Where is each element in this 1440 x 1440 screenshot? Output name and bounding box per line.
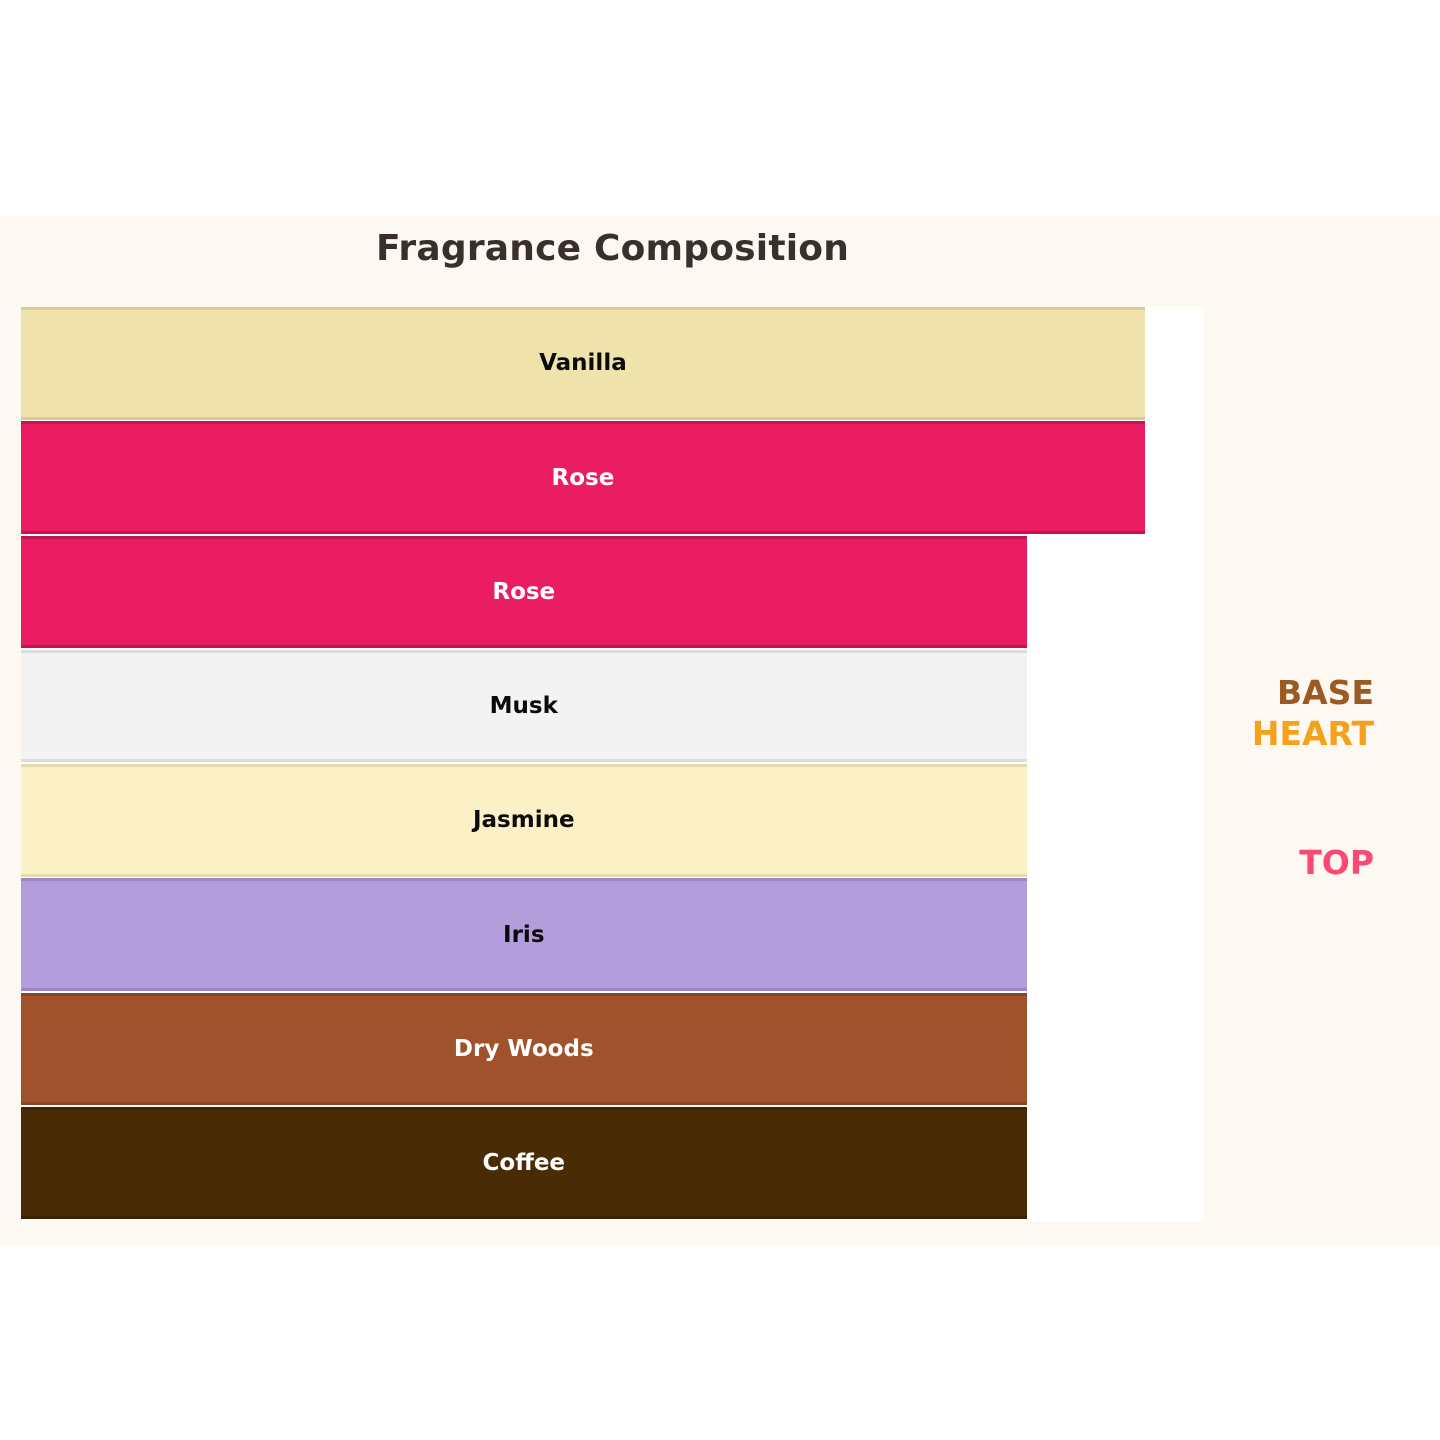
bar-jasmine[interactable]: Jasmine [21,764,1027,877]
bar-musk[interactable]: Musk [21,650,1027,763]
bar-coffee[interactable]: Coffee [21,1107,1027,1220]
screenshot-root: Fragrance Composition VanillaRoseRoseMus… [0,0,1440,1440]
bar-label: Dry Woods [454,1036,594,1062]
bar-vanilla[interactable]: Vanilla [21,307,1145,420]
bar-label: Coffee [483,1150,566,1176]
bar-label: Musk [490,693,558,719]
bar-rose[interactable]: Rose [21,536,1027,649]
plot-area: VanillaRoseRoseMuskJasmineIrisDry WoodsC… [21,307,1204,1221]
bar-label: Rose [552,465,615,491]
stage-label-heart: HEART [1252,714,1374,753]
bar-iris[interactable]: Iris [21,878,1027,991]
bar-label: Vanilla [539,350,627,376]
stage-label-base: BASE [1277,673,1374,712]
bar-dry-woods[interactable]: Dry Woods [21,993,1027,1106]
bar-label: Jasmine [473,807,575,833]
bar-rose[interactable]: Rose [21,421,1145,534]
stage-label-top: TOP [1299,843,1374,882]
page-title: Fragrance Composition [0,228,1225,269]
bar-label: Rose [492,579,555,605]
bar-label: Iris [503,922,544,948]
